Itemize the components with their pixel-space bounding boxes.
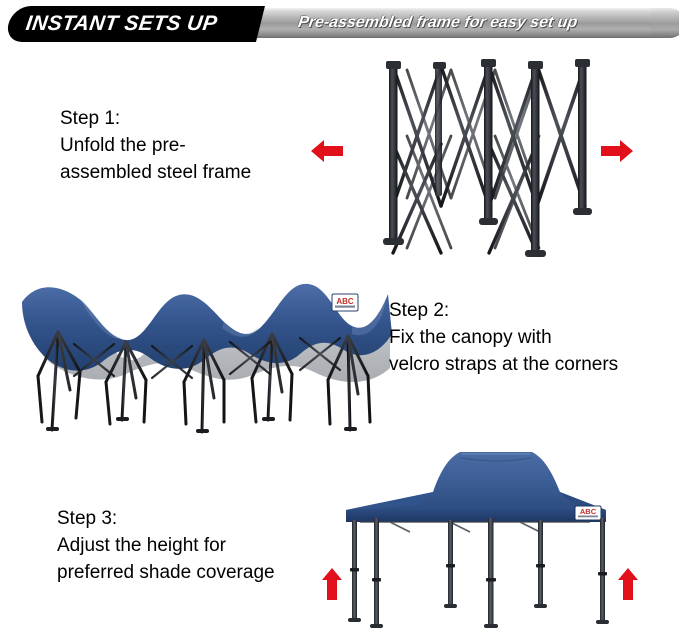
step-2-text: Step 2: Fix the canopy with velcro strap… <box>389 297 618 378</box>
canopy-roof <box>346 452 606 510</box>
logo-text: ABC <box>336 297 354 306</box>
instruction-sheet: INSTANT SETS UP Pre-assembled frame for … <box>0 0 679 633</box>
logo-text-step3: ABC <box>580 507 597 516</box>
canopy-foot-plates <box>348 604 609 628</box>
arrow-up-left-icon <box>322 568 342 600</box>
step-3-text: Step 3: Adjust the height for preferred … <box>57 505 275 586</box>
arrow-up-right-icon <box>618 568 638 600</box>
banner-title: INSTANT SETS UP <box>24 12 218 36</box>
frame-legs <box>389 62 587 254</box>
canopy-legs <box>352 518 605 626</box>
canopy-interior-frame <box>360 522 590 532</box>
canopy-valance <box>346 510 606 522</box>
arrow-right-icon <box>599 138 633 164</box>
header-banner: INSTANT SETS UP Pre-assembled frame for … <box>0 6 679 42</box>
banner-bar-right-cap <box>651 8 679 38</box>
logo-patch-step3: ABC <box>575 506 601 520</box>
arrow-left-icon <box>311 138 345 164</box>
step-1-illustration <box>355 48 655 263</box>
step-2-illustration: ABC <box>18 272 398 437</box>
banner-subtitle: Pre-assembled frame for easy set up <box>297 14 579 32</box>
logo-patch-step2: ABC <box>332 294 358 311</box>
leg-height-notches <box>350 564 607 582</box>
step-1-text: Step 1: Unfold the pre- assembled steel … <box>60 105 251 186</box>
step-3-illustration: ABC <box>320 440 665 630</box>
